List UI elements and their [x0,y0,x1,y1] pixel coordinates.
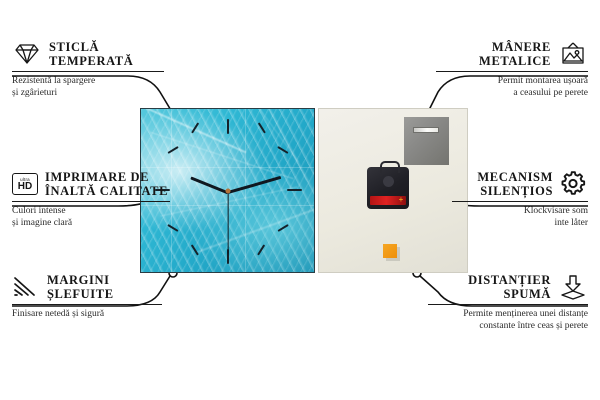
clock-tick-1 [258,122,266,133]
callout-subtitle: Permit montarea ușoară a ceasului pe per… [436,76,588,99]
callout-header: MARGINI ȘLEFUITE [12,273,162,301]
picture-frame-hanger-icon [558,42,588,66]
callout-subtitle: Klockvisare som inte låter [452,206,588,229]
callout-rule [452,201,588,202]
feather-strand [233,108,298,162]
callout-tempered-glass: STICLĂ TEMPERATĂ Rezistentă la spargere … [12,40,164,99]
clock-tick-10 [167,146,178,154]
beveled-edge-icon [12,275,40,299]
callout-subtitle: Culori intense și imagine clară [12,206,170,229]
clock-tick-3 [287,189,302,191]
callout-title: STICLĂ TEMPERATĂ [49,40,133,68]
diamond-icon [12,42,42,66]
callout-title: MÂNERE METALICE [479,40,551,68]
metal-hanger-plate [404,117,449,165]
arrow-down-layer-icon [558,274,588,300]
callout-subtitle: Rezistentă la spargere și zgârieturi [12,76,164,99]
callout-header: STICLĂ TEMPERATĂ [12,40,164,68]
glass-reflection-line [245,109,246,272]
hanger-slot [413,127,439,133]
clock-tick-12 [227,119,229,134]
callout-title: MECANISM SILENȚIOS [477,170,553,198]
callout-metal-handles: MÂNERE METALICE Permit montarea ușoară a… [436,40,588,99]
clock-back-panel: + [318,108,468,273]
glass-reflection-line [141,167,314,168]
clock-tick-4 [277,224,288,232]
second-hand [227,192,228,254]
callout-high-quality-print: ultra HD IMPRIMARE DE ÎNALTĂ CALITATE Cu… [12,170,170,229]
ultra-hd-main-text: HD [18,182,32,192]
callout-rule [12,71,164,72]
callout-subtitle: Finisare netedă și sigură [12,309,162,321]
clock-tick-5 [257,244,265,255]
feather-strand [197,207,315,253]
callout-rule [428,304,588,305]
quartz-movement: + [367,167,409,209]
callout-header: ultra HD IMPRIMARE DE ÎNALTĂ CALITATE [12,170,170,198]
clock-center-cap [225,188,230,193]
ultra-hd-badge-icon: ultra HD [12,173,38,195]
gear-icon [560,171,588,197]
callout-rule [436,71,588,72]
movement-shaft [383,176,394,187]
callout-rule [12,304,162,305]
hanger-loop-icon [380,161,400,173]
callout-rule [12,201,170,202]
callout-header: MÂNERE METALICE [436,40,588,68]
callout-title: MARGINI ȘLEFUITE [47,273,114,301]
infographic-canvas: + STICLĂ TEMPERATĂ Rezistentă la sparger… [0,0,600,400]
callout-header: MECANISM SILENȚIOS [452,170,588,198]
callout-foam-spacer: DISTANȚIER SPUMĂ Permite menținerea unei… [428,273,588,332]
glass-reflection-line [171,109,172,272]
product-image: + [140,108,468,273]
callout-title: DISTANȚIER SPUMĂ [468,273,551,301]
callout-header: DISTANȚIER SPUMĂ [428,273,588,301]
callout-subtitle: Permite menținerea unei distanțe constan… [428,309,588,332]
callout-title: IMPRIMARE DE ÎNALTĂ CALITATE [45,170,168,198]
callout-polished-edges: MARGINI ȘLEFUITE Finisare netedă și sigu… [12,273,162,321]
callout-silent-mechanism: MECANISM SILENȚIOS Klockvisare som inte … [452,170,588,229]
battery: + [370,196,406,205]
foam-spacer [383,244,397,258]
battery-plus-label: + [398,197,404,203]
hour-hand [190,176,228,194]
